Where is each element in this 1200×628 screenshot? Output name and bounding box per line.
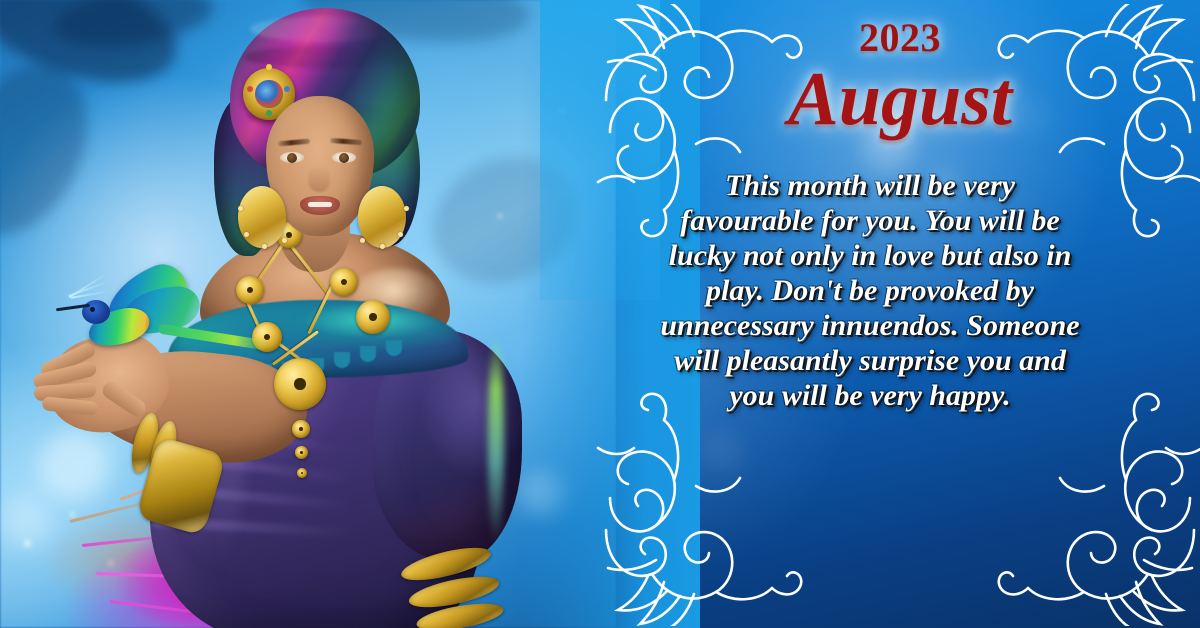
earring-bead bbox=[380, 244, 385, 249]
iris bbox=[287, 153, 297, 163]
horoscope-banner: 2023 August This month will be very favo… bbox=[0, 0, 1200, 628]
brooch-gem bbox=[266, 110, 272, 116]
earring-bead bbox=[282, 238, 287, 243]
teeth bbox=[308, 202, 332, 207]
year-label: 2023 bbox=[600, 14, 1200, 61]
necklace-disc bbox=[356, 300, 390, 334]
brooch-gem bbox=[266, 64, 272, 70]
lace-tooth bbox=[360, 346, 376, 362]
necklace-drop bbox=[292, 420, 310, 438]
earring-bead bbox=[404, 206, 409, 211]
hoop-earring bbox=[238, 186, 286, 248]
necklace-disc bbox=[330, 268, 358, 296]
rim-light bbox=[488, 336, 504, 546]
hummingbird-eye bbox=[90, 307, 95, 312]
necklace-pendant bbox=[274, 358, 326, 410]
brooch-gem bbox=[247, 86, 253, 92]
earring-bead bbox=[398, 232, 403, 237]
lace-tooth bbox=[386, 340, 402, 356]
woman-figure bbox=[0, 0, 616, 628]
earring-bead bbox=[244, 232, 249, 237]
necklace-disc bbox=[236, 276, 264, 304]
hoop-earring bbox=[358, 186, 406, 248]
necklace-drop bbox=[295, 446, 308, 459]
brooch-gem bbox=[284, 86, 290, 92]
iris bbox=[339, 153, 349, 163]
earring-bead bbox=[262, 244, 267, 249]
month-title: August bbox=[600, 56, 1200, 143]
necklace-drop bbox=[297, 468, 307, 478]
turban-fold bbox=[250, 16, 400, 42]
fortune-teller-illustration bbox=[0, 0, 616, 628]
eye bbox=[280, 152, 304, 163]
bokeh-dot bbox=[700, 430, 744, 474]
nose bbox=[308, 166, 330, 192]
lace-tooth bbox=[334, 352, 350, 368]
earring-bead bbox=[360, 238, 365, 243]
eye bbox=[332, 152, 356, 163]
earring-bead bbox=[238, 206, 243, 211]
horoscope-text: This month will be very favourable for y… bbox=[660, 168, 1080, 413]
